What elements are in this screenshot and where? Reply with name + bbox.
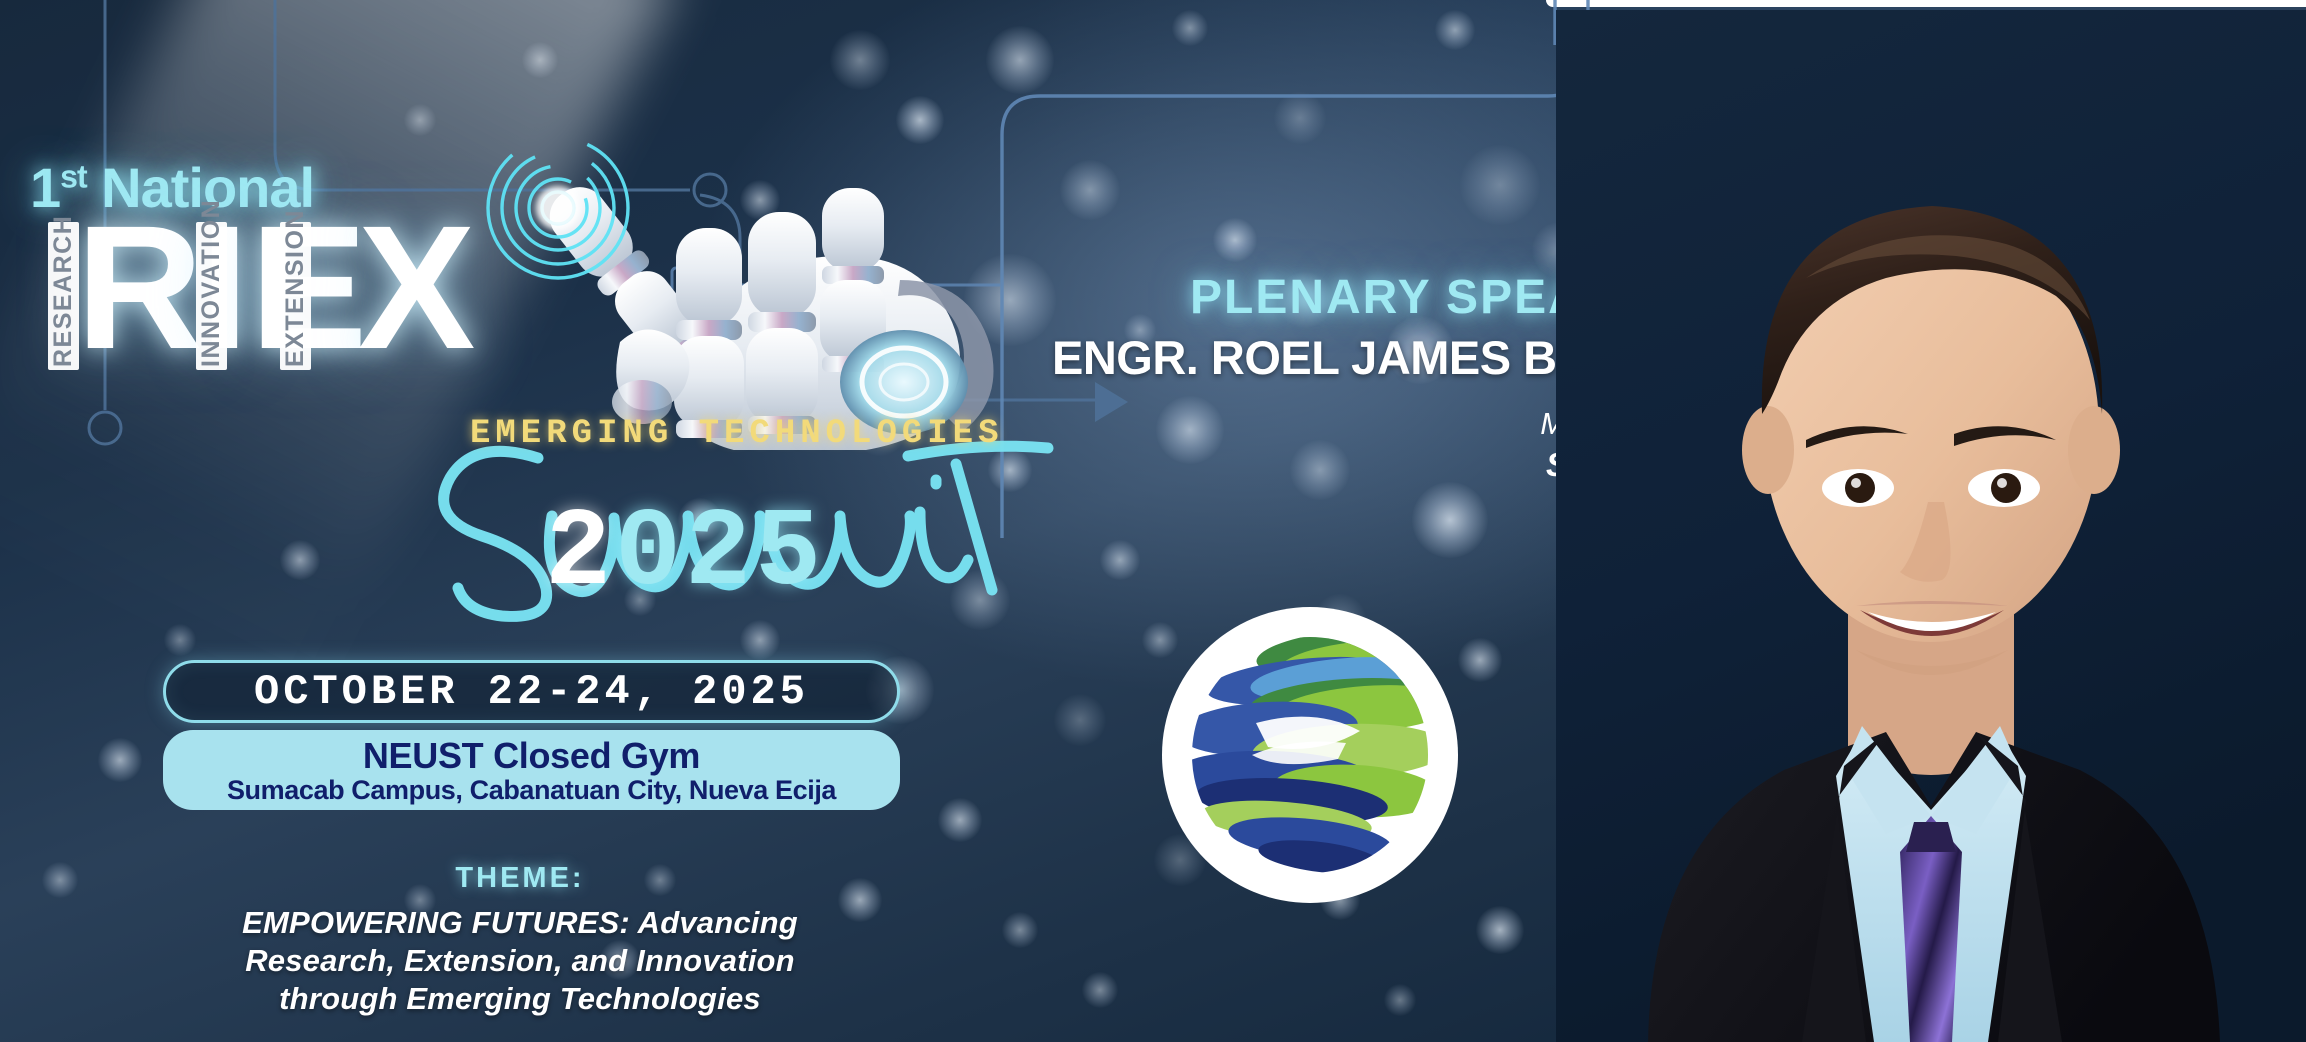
bokeh-particle <box>1435 10 1475 50</box>
riex-letter-r: R <box>76 210 203 366</box>
event-promo-banner: 1st National R I E X RESEARCH INNOVATION… <box>0 0 2306 1042</box>
theme-block: THEME: EMPOWERING FUTURES: Advancing Res… <box>100 862 940 1017</box>
bokeh-particle <box>1458 638 1502 682</box>
year-first-digit: 2 <box>545 492 615 617</box>
bokeh-particle <box>1460 145 1540 225</box>
bokeh-particle <box>98 738 142 782</box>
bokeh-particle <box>830 30 890 90</box>
date-pill[interactable]: OCTOBER 22-24, 2025 <box>163 660 900 723</box>
venue-address: Sumacab Campus, Cabanatuan City, Nueva E… <box>227 776 836 806</box>
date-text: OCTOBER 22-24, 2025 <box>254 668 809 716</box>
riex-letter-x: X <box>358 210 475 366</box>
bokeh-particle <box>164 624 196 656</box>
theme-statement: EMPOWERING FUTURES: Advancing Research, … <box>100 904 940 1017</box>
bokeh-particle <box>1476 906 1524 954</box>
year-remaining-digits: 025 <box>615 492 825 617</box>
bokeh-particle <box>1172 10 1208 46</box>
bokeh-particle <box>1082 972 1118 1008</box>
top-accent-strip <box>1546 0 2306 7</box>
bokeh-particle <box>1002 912 1038 948</box>
bokeh-particle <box>740 620 780 660</box>
theme-line-2: Research, Extension, and Innovation <box>100 942 940 980</box>
pillar-extension: EXTENSION <box>280 222 311 370</box>
bokeh-particle <box>938 798 982 842</box>
pillar-research: RESEARCH <box>48 222 79 370</box>
pillar-innovation: INNOVATION <box>196 222 227 370</box>
bokeh-particle <box>1274 92 1326 144</box>
venue-pill[interactable]: NEUST Closed Gym Sumacab Campus, Cabanat… <box>163 730 900 810</box>
year-label: 2025 <box>545 500 825 610</box>
bokeh-particle <box>1213 218 1257 262</box>
venue-name: NEUST Closed Gym <box>363 737 700 775</box>
riex-acronym-row: R I E X RESEARCH INNOVATION EXTENSION <box>18 210 578 380</box>
speaker-portrait <box>1556 10 2306 1042</box>
bokeh-particle <box>1412 482 1488 558</box>
theme-label: THEME: <box>100 862 940 895</box>
bokeh-particle <box>988 448 1032 492</box>
bokeh-particle <box>1054 694 1106 746</box>
sangfor-globe-logo-icon <box>1160 605 1460 905</box>
tagline-emerging-technologies: EMERGING TECHNOLOGIES <box>470 415 1003 453</box>
bokeh-particle <box>1060 160 1120 220</box>
theme-line-1: EMPOWERING FUTURES: Advancing <box>100 904 940 942</box>
bokeh-particle <box>950 570 1010 630</box>
bokeh-particle <box>42 862 78 898</box>
bokeh-particle <box>986 26 1054 94</box>
ordinal-suffix: st <box>60 158 86 194</box>
riex-logo-block: 1st National R I E X RESEARCH INNOVATION… <box>18 160 578 380</box>
portrait-illustration <box>1556 10 2306 1042</box>
bokeh-particle <box>1100 540 1140 580</box>
theme-line-3: through Emerging Technologies <box>100 980 940 1018</box>
bokeh-particle <box>1384 984 1416 1016</box>
